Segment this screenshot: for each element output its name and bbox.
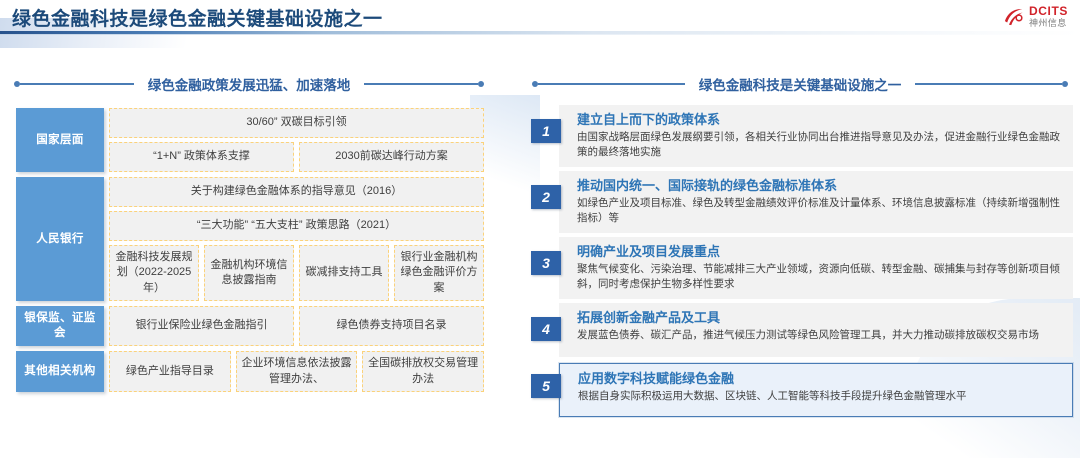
matrix-row-label: 人民银行 <box>16 177 104 301</box>
matrix-row-label: 国家层面 <box>16 108 104 172</box>
matrix-row: 人民银行 关于构建绿色金融体系的指导意见（2016） “三大功能” “五大支柱”… <box>16 177 484 301</box>
keypoint-list: 1 建立自上而下的政策体系 由国家战略层面绿色发展纲要引领，各相关行业协同出台推… <box>531 105 1073 419</box>
keypoint-description: 聚焦气候变化、污染治理、节能减排三大产业领域，资源向低碳、转型金融、碳捕集与封存… <box>577 262 1063 292</box>
left-section-heading: 绿色金融政策发展迅猛、加速落地 <box>14 74 484 94</box>
left-section-heading-label: 绿色金融政策发展迅猛、加速落地 <box>134 74 365 94</box>
keypoint-item-1: 1 建立自上而下的政策体系 由国家战略层面绿色发展纲要引领，各相关行业协同出台推… <box>531 105 1073 167</box>
keypoint-title: 拓展创新金融产品及工具 <box>577 309 1063 327</box>
keypoint-panel: 推动国内统一、国际接轨的绿色金融标准体系 如绿色产业及项目标准、绿色及转型金融绩… <box>559 171 1073 233</box>
matrix-cell: 绿色债券支持项目名录 <box>299 306 484 346</box>
matrix-cell: 银行业保险业绿色金融指引 <box>109 306 294 346</box>
matrix-row-body: 银行业保险业绿色金融指引 绿色债券支持项目名录 <box>109 306 484 346</box>
keypoint-item-3: 3 明确产业及项目发展重点 聚焦气候变化、污染治理、节能减排三大产业领域，资源向… <box>531 237 1073 299</box>
deco-bar <box>364 83 478 85</box>
logo-text-cn: 神州信息 <box>1029 19 1068 28</box>
matrix-subrow: 绿色产业指导目录 企业环境信息依法披露管理办法、 全国碳排放权交易管理办法 <box>109 351 484 392</box>
matrix-cell: 企业环境信息依法披露管理办法、 <box>236 351 358 392</box>
deco-dot-icon <box>478 81 484 87</box>
deco-bar <box>915 83 1062 85</box>
matrix-cell: 关于构建绿色金融体系的指导意见（2016） <box>109 177 484 207</box>
matrix-cell: 30/60” 双碳目标引领 <box>109 108 484 138</box>
heading-deco-right <box>915 81 1068 87</box>
matrix-row: 银保监、证监会 银行业保险业绿色金融指引 绿色债券支持项目名录 <box>16 306 484 346</box>
matrix-subrow: 金融科技发展规划（2022-2025年） 金融机构环境信息披露指南 碳减排支持工… <box>109 245 484 301</box>
keypoint-panel: 明确产业及项目发展重点 聚焦气候变化、污染治理、节能减排三大产业领域，资源向低碳… <box>559 237 1073 299</box>
right-section-heading-label: 绿色金融科技是关键基础设施之一 <box>685 74 916 94</box>
keypoint-title: 明确产业及项目发展重点 <box>577 243 1063 261</box>
keypoint-number-badge: 2 <box>531 185 561 209</box>
matrix-subrow: 关于构建绿色金融体系的指导意见（2016） <box>109 177 484 207</box>
matrix-subrow: “三大功能” “五大支柱” 政策思路（2021） <box>109 211 484 241</box>
deco-bar <box>538 83 685 85</box>
matrix-cell: 银行业金融机构绿色金融评价方案 <box>394 245 484 301</box>
heading-deco-left <box>14 81 134 87</box>
keypoint-title: 推动国内统一、国际接轨的绿色金融标准体系 <box>577 177 1063 195</box>
matrix-row-body: 绿色产业指导目录 企业环境信息依法披露管理办法、 全国碳排放权交易管理办法 <box>109 351 484 392</box>
keypoint-item-5: 5 应用数字科技赋能绿色金融 根据自身实际积极运用大数据、区块链、人工智能等科技… <box>531 363 1073 419</box>
matrix-subrow: 30/60” 双碳目标引领 <box>109 108 484 138</box>
matrix-subrow: “1+N” 政策体系支撑 2030前碳达峰行动方案 <box>109 142 484 172</box>
title-divider-secondary <box>0 34 1080 35</box>
matrix-cell: 全国碳排放权交易管理办法 <box>362 351 484 392</box>
matrix-subrow: 银行业保险业绿色金融指引 绿色债券支持项目名录 <box>109 306 484 346</box>
matrix-row-label: 银保监、证监会 <box>16 306 104 346</box>
matrix-row-body: 关于构建绿色金融体系的指导意见（2016） “三大功能” “五大支柱” 政策思路… <box>109 177 484 301</box>
matrix-cell: 2030前碳达峰行动方案 <box>299 142 484 172</box>
slide-root: 绿色金融科技是绿色金融关键基础设施之一 DCITS 神州信息 绿色金融政策发展迅… <box>0 0 1080 458</box>
logo-text-en: DCITS <box>1029 5 1068 17</box>
deco-bar <box>20 83 134 85</box>
matrix-row-body: 30/60” 双碳目标引领 “1+N” 政策体系支撑 2030前碳达峰行动方案 <box>109 108 484 172</box>
matrix-cell: 金融科技发展规划（2022-2025年） <box>109 245 199 301</box>
keypoint-description: 由国家战略层面绿色发展纲要引领，各相关行业协同出台推进指导意见及办法，促进金融行… <box>577 130 1063 160</box>
keypoint-number-badge: 3 <box>531 251 561 275</box>
heading-deco-right <box>364 81 484 87</box>
policy-matrix: 国家层面 30/60” 双碳目标引领 “1+N” 政策体系支撑 2030前碳达峰… <box>16 108 484 392</box>
keypoint-description: 根据自身实际积极运用大数据、区块链、人工智能等科技手段提升绿色金融管理水平 <box>578 389 1062 404</box>
matrix-cell: “三大功能” “五大支柱” 政策思路（2021） <box>109 211 484 241</box>
keypoint-description: 如绿色产业及项目标准、绿色及转型金融绩效评价标准及计量体系、环境信息披露标准（持… <box>577 196 1063 226</box>
keypoint-number-badge: 1 <box>531 119 561 143</box>
matrix-cell: “1+N” 政策体系支撑 <box>109 142 294 172</box>
keypoint-title: 应用数字科技赋能绿色金融 <box>578 370 1062 388</box>
keypoint-panel-highlighted: 应用数字科技赋能绿色金融 根据自身实际积极运用大数据、区块链、人工智能等科技手段… <box>559 363 1073 417</box>
heading-deco-left <box>532 81 685 87</box>
matrix-cell: 金融机构环境信息披露指南 <box>204 245 294 301</box>
deco-dot-icon <box>1062 81 1068 87</box>
right-section-heading: 绿色金融科技是关键基础设施之一 <box>532 74 1068 94</box>
keypoint-number-badge: 4 <box>531 317 561 341</box>
keypoint-title: 建立自上而下的政策体系 <box>577 111 1063 129</box>
keypoint-number-badge: 5 <box>531 374 561 398</box>
dcits-swoosh-icon <box>1003 7 1025 27</box>
brand-logo: DCITS 神州信息 <box>1003 5 1068 28</box>
keypoint-item-2: 2 推动国内统一、国际接轨的绿色金融标准体系 如绿色产业及项目标准、绿色及转型金… <box>531 171 1073 233</box>
keypoint-item-4: 4 拓展创新金融产品及工具 发展蓝色债券、碳汇产品，推进气候压力测试等绿色风险管… <box>531 303 1073 359</box>
keypoint-description: 发展蓝色债券、碳汇产品，推进气候压力测试等绿色风险管理工具，并大力推动碳排放碳权… <box>577 328 1063 343</box>
keypoint-panel: 建立自上而下的政策体系 由国家战略层面绿色发展纲要引领，各相关行业协同出台推进指… <box>559 105 1073 167</box>
matrix-row: 其他相关机构 绿色产业指导目录 企业环境信息依法披露管理办法、 全国碳排放权交易… <box>16 351 484 392</box>
matrix-row-label: 其他相关机构 <box>16 351 104 392</box>
matrix-cell: 绿色产业指导目录 <box>109 351 231 392</box>
matrix-row: 国家层面 30/60” 双碳目标引领 “1+N” 政策体系支撑 2030前碳达峰… <box>16 108 484 172</box>
matrix-cell: 碳减排支持工具 <box>299 245 389 301</box>
keypoint-panel: 拓展创新金融产品及工具 发展蓝色债券、碳汇产品，推进气候压力测试等绿色风险管理工… <box>559 303 1073 357</box>
page-title: 绿色金融科技是绿色金融关键基础设施之一 <box>12 4 383 31</box>
